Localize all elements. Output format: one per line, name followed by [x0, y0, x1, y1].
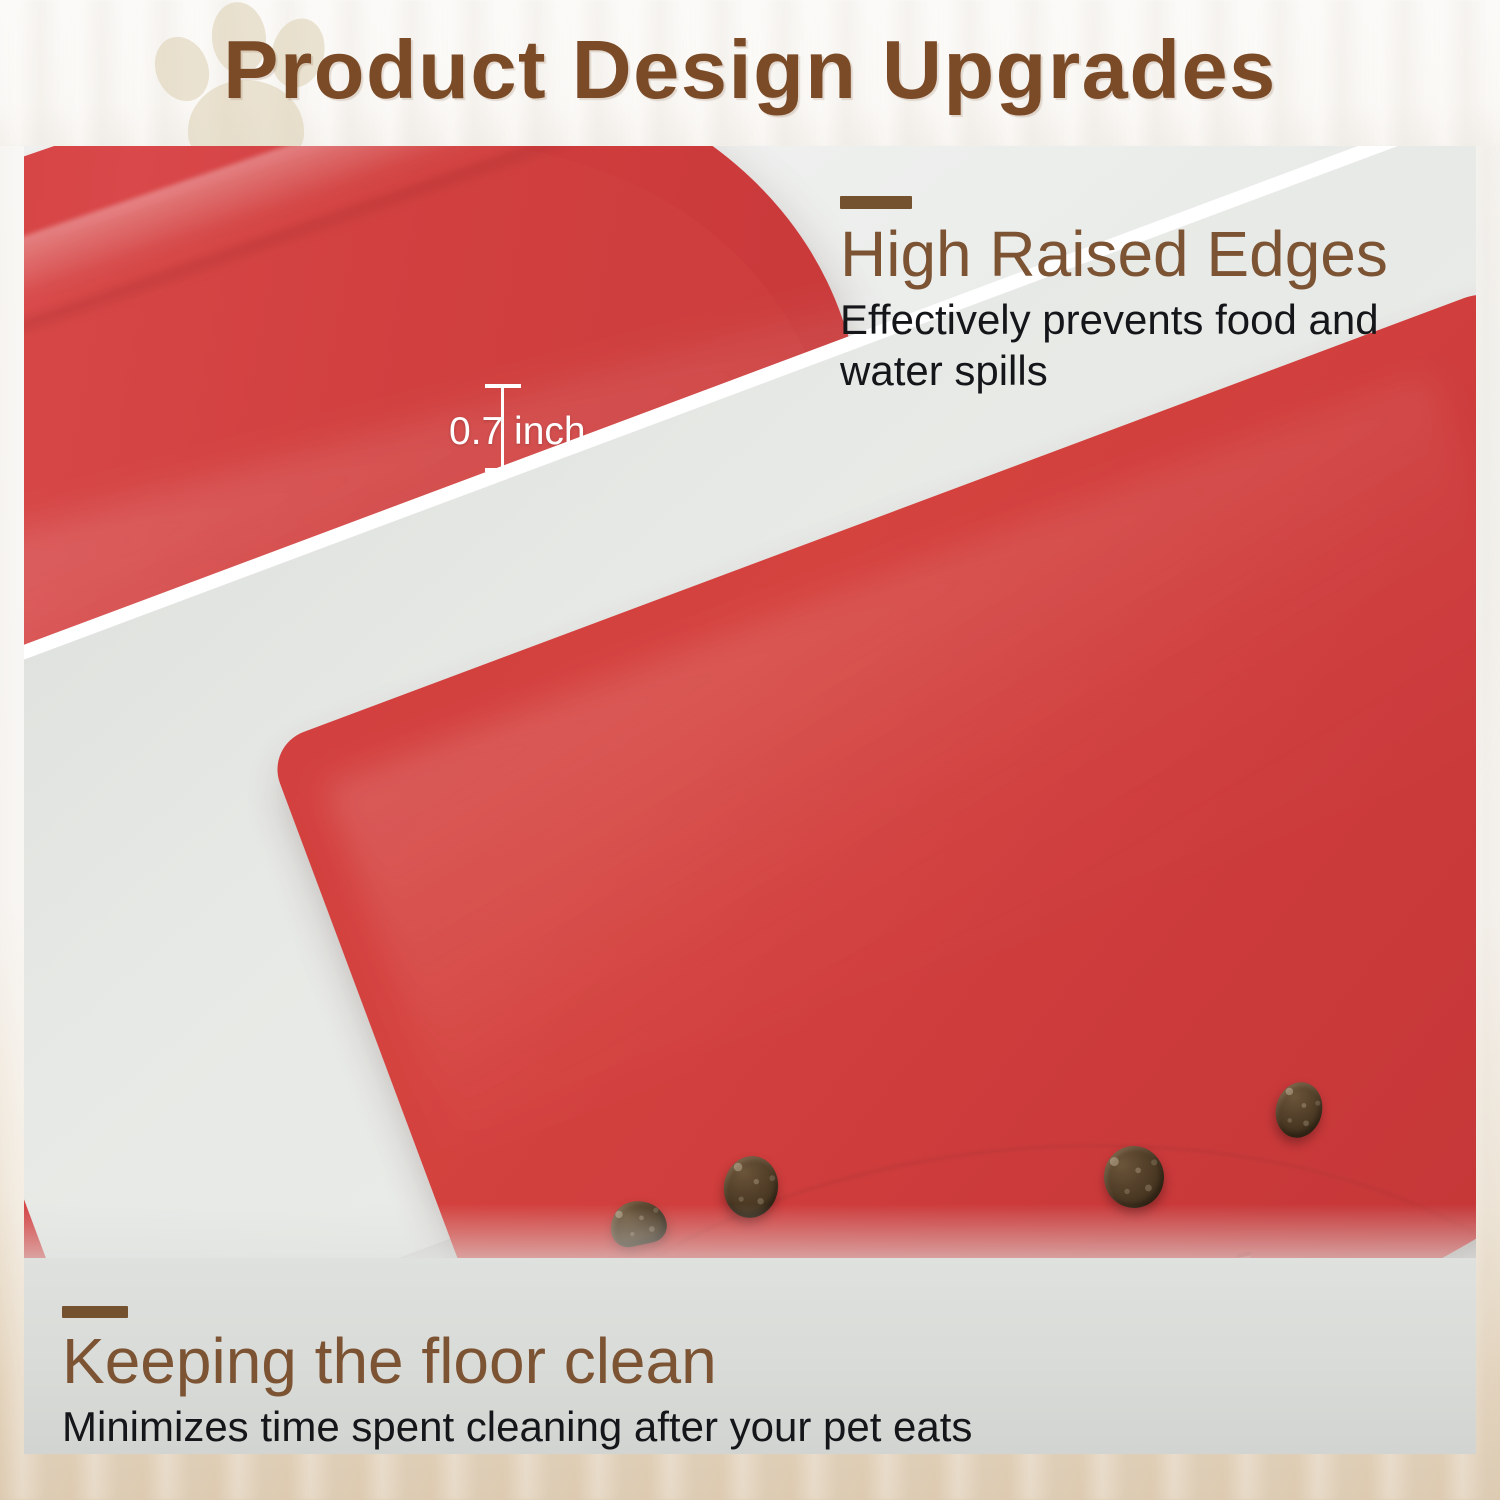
callout-high-raised-edges: High Raised Edges Effectively prevents f… — [840, 196, 1460, 397]
callout-heading: High Raised Edges — [840, 221, 1460, 288]
callout-heading: Keeping the floor clean — [62, 1328, 972, 1395]
callout-body: Effectively prevents food and water spil… — [840, 294, 1460, 396]
callout-keeping-floor-clean: Keeping the floor clean Minimizes time s… — [62, 1306, 972, 1452]
page-title: Product Design Upgrades — [0, 22, 1500, 118]
callout-body: Minimizes time spent cleaning after your… — [62, 1401, 972, 1452]
product-infographic: Product Design Upgrades 0.7 inch — [0, 0, 1500, 1500]
callout-accent-dash — [62, 1306, 128, 1318]
callout-accent-dash — [840, 196, 912, 209]
header-banner: Product Design Upgrades — [0, 0, 1500, 146]
